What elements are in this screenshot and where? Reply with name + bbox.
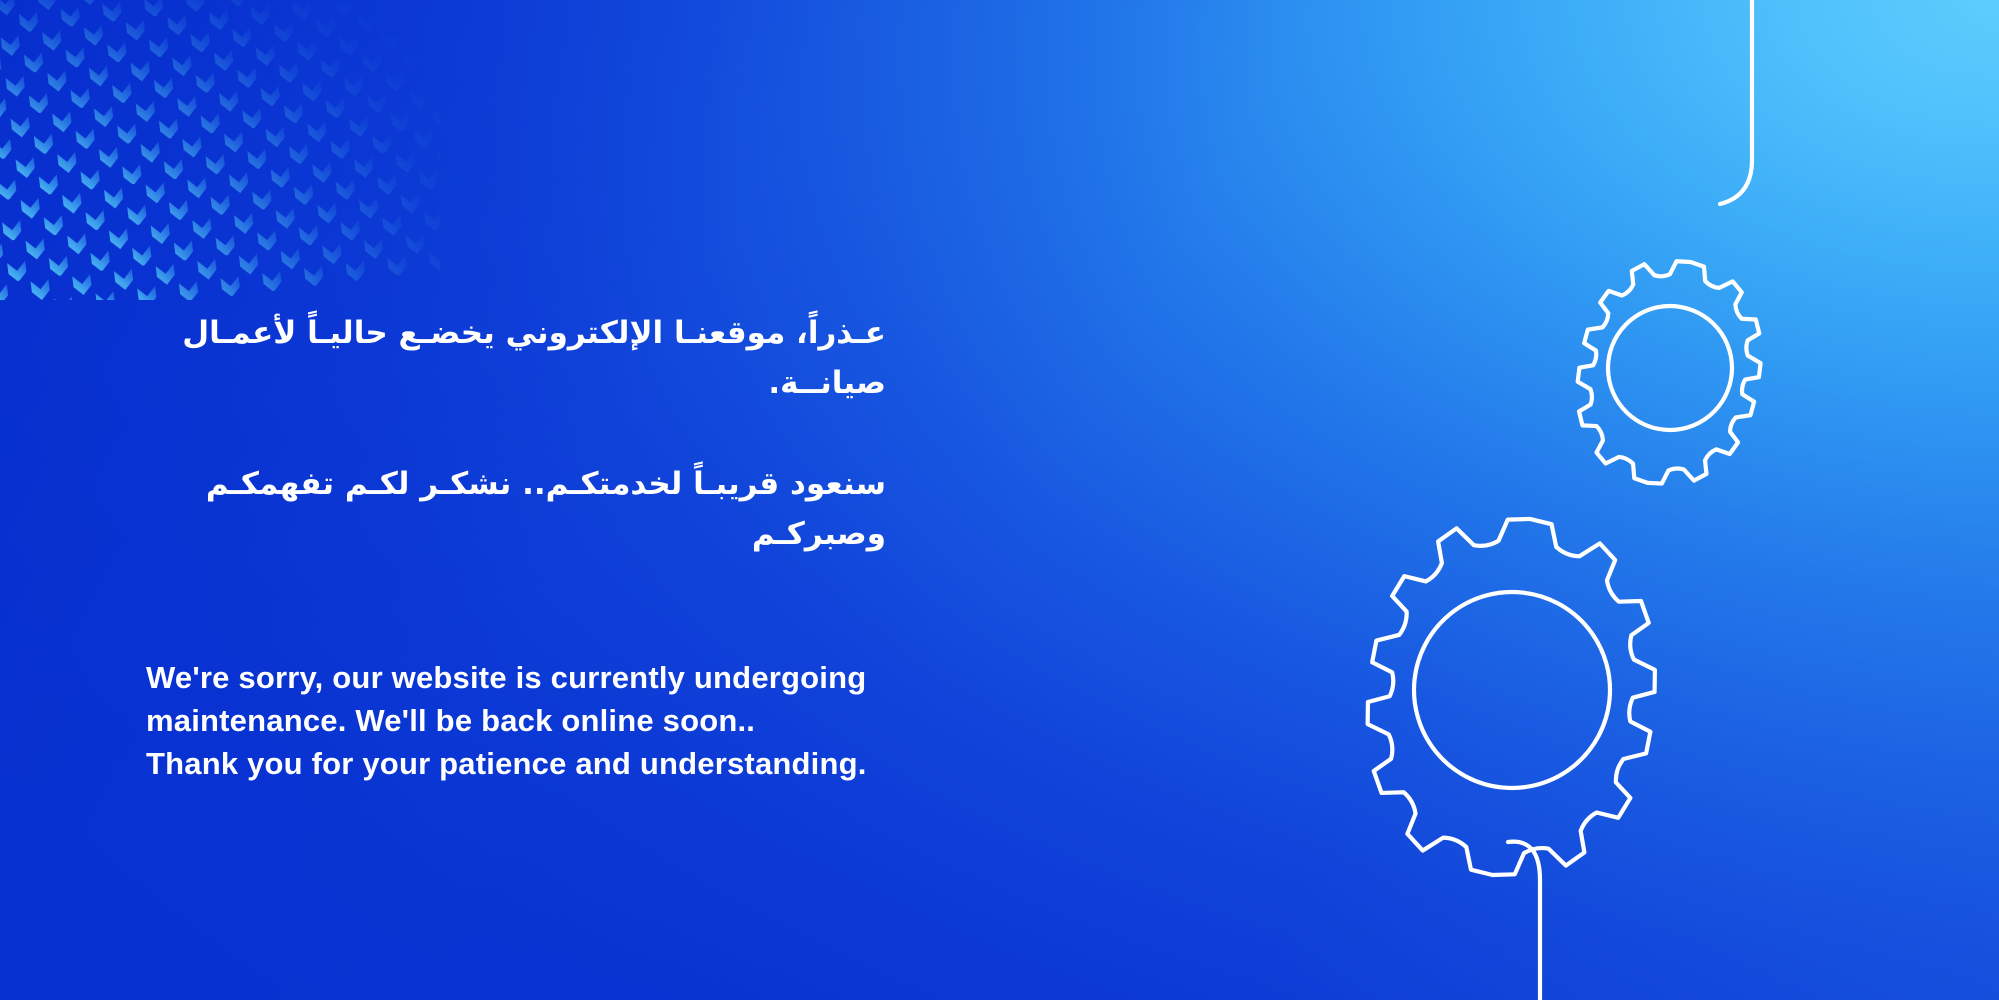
english-line-1: We're sorry, our website is currently un… (146, 656, 976, 699)
arabic-line-2: سنعود قريبـاً لخدمتكـم.. نشكـر لكـم تفهم… (146, 459, 886, 559)
english-line-3: Thank you for your patience and understa… (146, 742, 976, 785)
english-line-2: maintenance. We'll be back online soon.. (146, 699, 976, 742)
arabic-message: عـذراً، موقعنـا الإلكتروني يخضـع حاليـاً… (146, 258, 886, 610)
arabic-line-1: عـذراً، موقعنـا الإلكتروني يخضـع حاليـاً… (146, 308, 886, 408)
english-message: We're sorry, our website is currently un… (146, 656, 976, 786)
maintenance-page: عـذراً، موقعنـا الإلكتروني يخضـع حاليـاً… (0, 0, 1999, 1000)
message-block: عـذراً، موقعنـا الإلكتروني يخضـع حاليـاً… (146, 258, 976, 786)
